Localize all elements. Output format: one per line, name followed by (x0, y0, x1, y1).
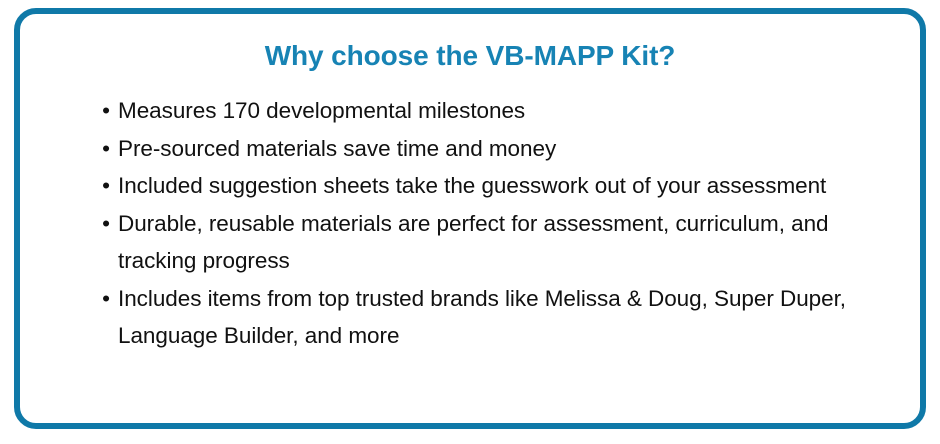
bullet-icon: • (96, 92, 116, 130)
page-title: Why choose the VB-MAPP Kit? (20, 14, 920, 73)
benefits-list: • Measures 170 developmental milestones … (20, 73, 920, 355)
list-item-label: Pre-sourced materials save time and mone… (118, 130, 858, 168)
bullet-icon: • (96, 130, 116, 168)
list-item: • Measures 170 developmental milestones (20, 92, 920, 130)
bullet-icon: • (96, 280, 116, 318)
list-item: • Pre-sourced materials save time and mo… (20, 130, 920, 168)
list-item-label: Included suggestion sheets take the gues… (118, 167, 858, 205)
list-item-label: Durable, reusable materials are perfect … (118, 205, 858, 280)
bullet-icon: • (96, 167, 116, 205)
list-item-label: Includes items from top trusted brands l… (118, 280, 858, 355)
bullet-icon: • (96, 205, 116, 243)
vb-mapp-benefits-card: Why choose the VB-MAPP Kit? • Measures 1… (14, 8, 926, 429)
list-item: • Included suggestion sheets take the gu… (20, 167, 920, 205)
list-item: • Durable, reusable materials are perfec… (20, 205, 920, 280)
list-item: • Includes items from top trusted brands… (20, 280, 920, 355)
list-item-label: Measures 170 developmental milestones (118, 92, 858, 130)
